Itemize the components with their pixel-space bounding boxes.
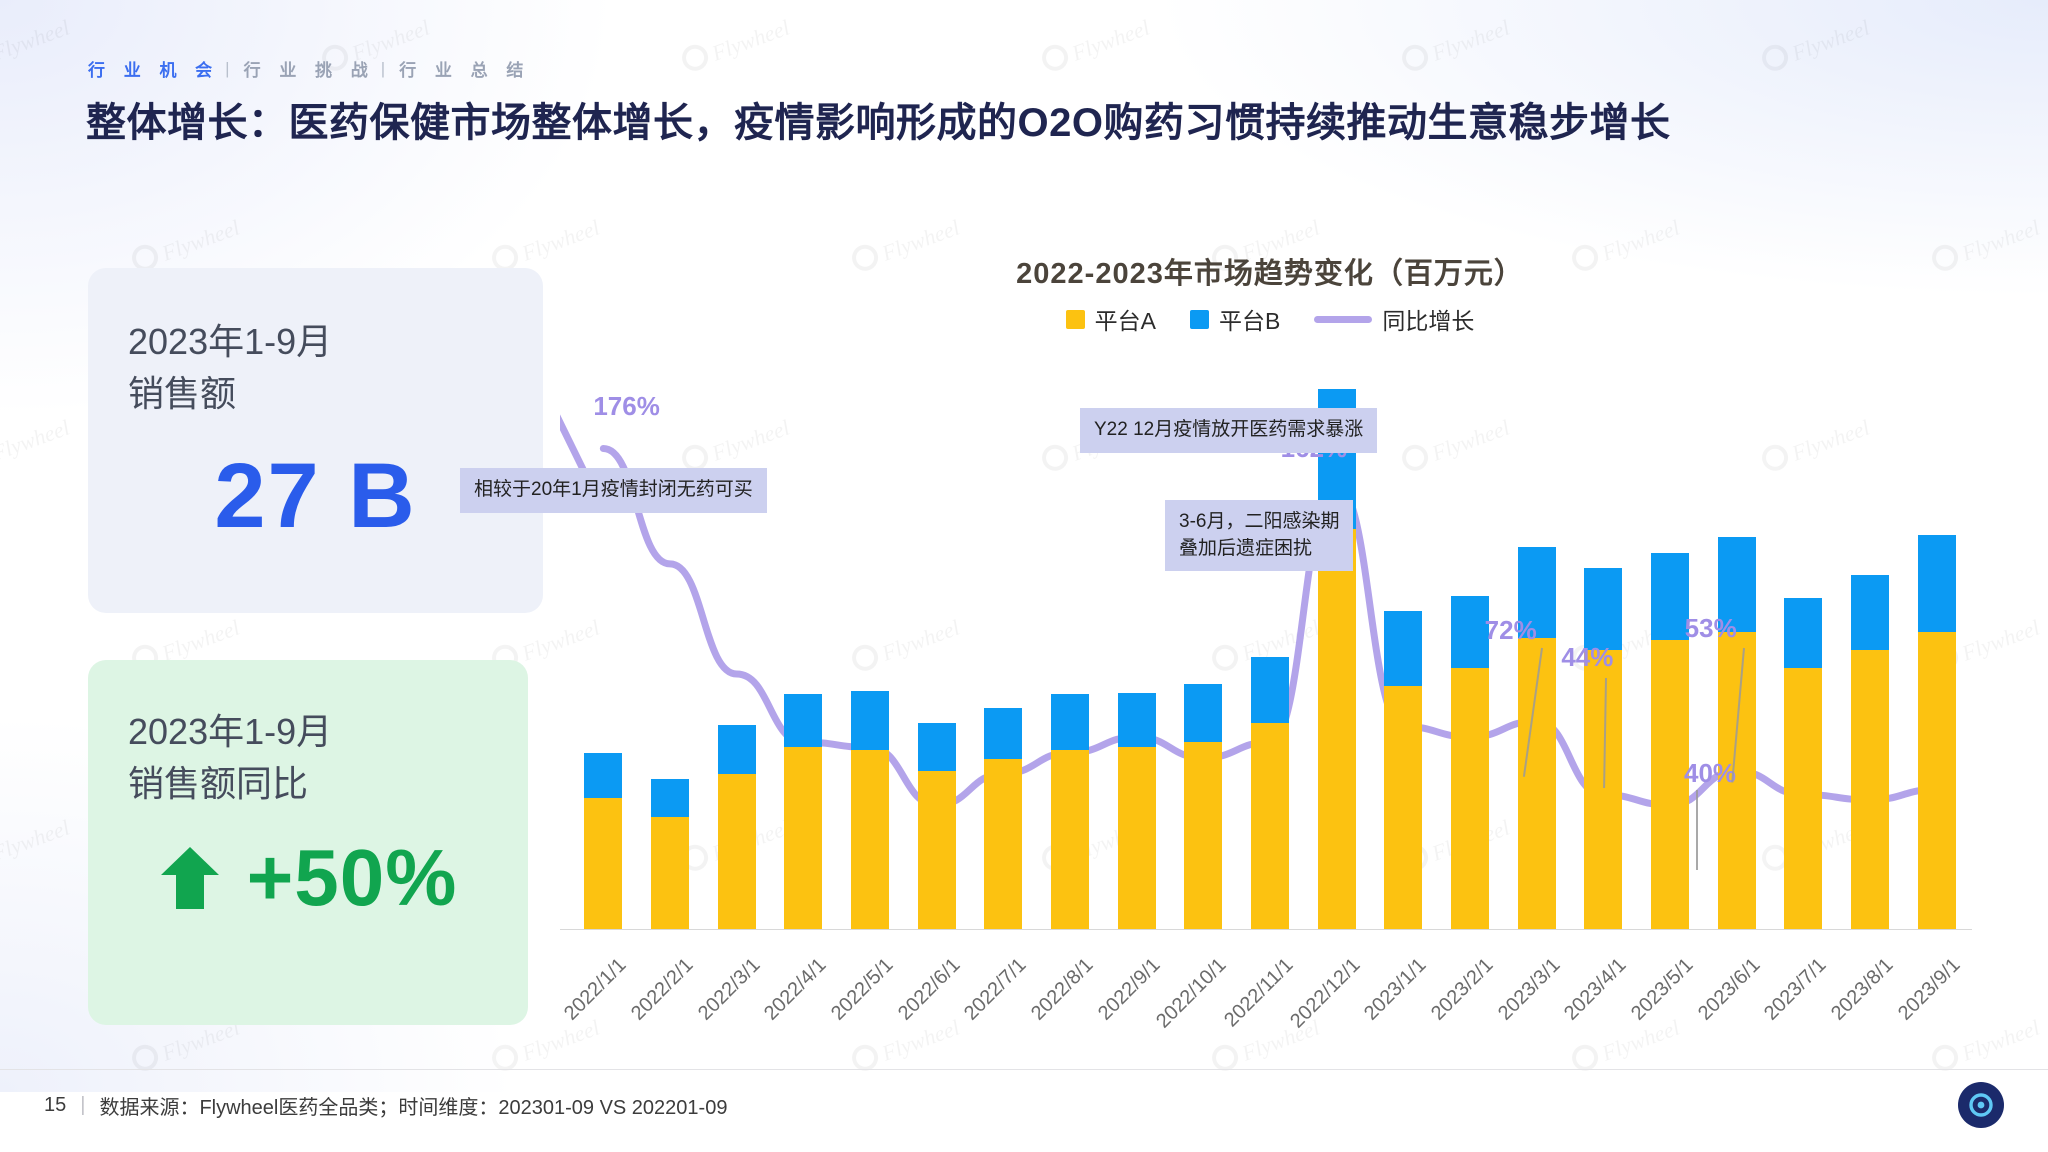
- footer-separator: |: [80, 1094, 85, 1117]
- chart-x-tick-labels: 2022/1/12022/2/12022/3/12022/4/12022/5/1…: [560, 940, 1980, 1050]
- legend-swatch-yoy-growth: [1314, 316, 1372, 323]
- bar-column: [1518, 547, 1556, 929]
- bar-column: [1784, 598, 1822, 929]
- bar-segment-platform-a: [784, 747, 822, 929]
- bar-segment-platform-a: [1851, 650, 1889, 929]
- chart-title: 2022-2023年市场趋势变化（百万元）: [560, 250, 1980, 292]
- bar-segment-platform-a: [918, 771, 956, 929]
- footer: 15 | 数据来源：Flywheel医药全品类；时间维度：202301-09 V…: [44, 1091, 727, 1120]
- legend-item-platform-a[interactable]: 平台A: [1066, 302, 1156, 336]
- footer-divider: [0, 1069, 2048, 1070]
- bar-column: [984, 708, 1022, 929]
- bar-segment-platform-b: [1584, 568, 1622, 650]
- legend-item-yoy-growth[interactable]: 同比增长: [1314, 302, 1474, 336]
- chart-legend: 平台A 平台B 同比增长: [560, 302, 1980, 336]
- legend-swatch-platform-b: [1190, 310, 1209, 329]
- bar-segment-platform-b: [651, 779, 689, 818]
- bar-segment-platform-b: [1118, 693, 1156, 748]
- kpi-card-sales: 2023年1-9月销售额 27 B: [88, 268, 543, 613]
- bar-column: [1651, 553, 1689, 929]
- flywheel-logo-icon: [1966, 1090, 1996, 1120]
- legend-label-platform-a: 平台A: [1095, 302, 1156, 336]
- legend-label-yoy-growth: 同比增长: [1382, 302, 1474, 336]
- chart-data-label: 72%: [1485, 615, 1537, 646]
- bar-segment-platform-b: [1384, 611, 1422, 686]
- bar-segment-platform-b: [1784, 598, 1822, 668]
- bar-segment-platform-a: [1184, 742, 1222, 929]
- bar-segment-platform-b: [718, 725, 756, 774]
- bar-segment-platform-a: [851, 750, 889, 929]
- bar-segment-platform-b: [584, 753, 622, 798]
- chart-data-label: 44%: [1561, 642, 1613, 673]
- bar-segment-platform-a: [584, 798, 622, 929]
- bar-column: [1184, 684, 1222, 929]
- legend-swatch-platform-a: [1066, 310, 1085, 329]
- breadcrumb-separator: |: [225, 59, 229, 79]
- bar-column: [1118, 693, 1156, 929]
- footer-source: 数据来源：Flywheel医药全品类；时间维度：202301-09 VS 202…: [99, 1091, 727, 1120]
- legend-label-platform-b: 平台B: [1219, 302, 1280, 336]
- chart-data-label: 176%: [593, 391, 660, 422]
- bar-segment-platform-b: [1651, 553, 1689, 640]
- kpi-card-sales-label: 2023年1-9月销售额: [88, 268, 543, 420]
- market-trend-chart: 2022-2023年市场趋势变化（百万元） 平台A 平台B 同比增长 176%1…: [560, 250, 1980, 1050]
- kpi-card-yoy-label: 2023年1-9月销售额同比: [88, 660, 528, 810]
- bar-segment-platform-b: [1851, 575, 1889, 650]
- bar-segment-platform-b: [1451, 596, 1489, 669]
- breadcrumb-item-1[interactable]: 行 业 挑 战: [244, 56, 375, 81]
- legend-item-platform-b[interactable]: 平台B: [1190, 302, 1280, 336]
- bar-segment-platform-a: [1251, 723, 1289, 929]
- chart-data-label: 40%: [1684, 758, 1736, 789]
- breadcrumb-separator: |: [381, 59, 385, 79]
- bar-column: [918, 723, 956, 929]
- bar-segment-platform-a: [1584, 650, 1622, 929]
- brand-logo: [1958, 1082, 2004, 1128]
- kpi-card-yoy: 2023年1-9月销售额同比 +50%: [88, 660, 528, 1025]
- bar-segment-platform-a: [718, 774, 756, 929]
- data-label-leader-line: [1696, 790, 1698, 870]
- bar-segment-platform-a: [1451, 668, 1489, 929]
- bar-column: [718, 725, 756, 929]
- footer-page-number: 15: [44, 1094, 66, 1117]
- bar-column: [1384, 611, 1422, 929]
- bar-segment-platform-a: [1318, 529, 1356, 929]
- bar-column: [1851, 575, 1889, 929]
- chart-plot-area: 176%162%72%44%40%53%相较于20年1月疫情封闭无药可买Y22 …: [560, 360, 1980, 930]
- chart-annotation: 相较于20年1月疫情封闭无药可买: [460, 468, 767, 513]
- breadcrumb: 行 业 机 会 | 行 业 挑 战 | 行 业 总 结: [88, 56, 530, 81]
- bar-segment-platform-b: [1918, 535, 1956, 632]
- bar-segment-platform-b: [784, 694, 822, 747]
- bar-segment-platform-a: [1384, 686, 1422, 929]
- bar-column: [1251, 657, 1289, 929]
- bar-column: [651, 779, 689, 929]
- bar-column: [1051, 694, 1089, 929]
- bar-segment-platform-b: [1051, 694, 1089, 750]
- breadcrumb-item-0[interactable]: 行 业 机 会: [88, 56, 219, 81]
- bar-segment-platform-b: [1251, 657, 1289, 722]
- bar-segment-platform-a: [1051, 750, 1089, 929]
- bar-column: [851, 691, 889, 929]
- chart-annotation: Y22 12月疫情放开医药需求暴涨: [1080, 408, 1377, 453]
- chart-data-label: 53%: [1685, 613, 1737, 644]
- bar-column: [784, 694, 822, 929]
- bar-segment-platform-b: [918, 723, 956, 772]
- bar-segment-platform-a: [1918, 632, 1956, 929]
- bar-segment-platform-a: [984, 759, 1022, 929]
- bar-column: [1318, 389, 1356, 929]
- breadcrumb-item-2[interactable]: 行 业 总 结: [399, 56, 530, 81]
- kpi-card-yoy-value: +50%: [247, 832, 458, 924]
- bar-column: [1918, 535, 1956, 929]
- bar-segment-platform-b: [984, 708, 1022, 759]
- bar-segment-platform-a: [1784, 668, 1822, 929]
- bar-segment-platform-b: [1184, 684, 1222, 742]
- bar-segment-platform-a: [1118, 747, 1156, 929]
- bar-segment-platform-a: [651, 817, 689, 929]
- bar-segment-platform-b: [851, 691, 889, 749]
- bar-column: [584, 753, 622, 929]
- chart-x-axis: [560, 929, 1972, 930]
- kpi-card-yoy-value-row: +50%: [88, 832, 528, 924]
- bar-column: [1451, 596, 1489, 930]
- page-title: 整体增长：医药保健市场整体增长，疫情影响形成的O2O购药习惯持续推动生意稳步增长: [86, 96, 1966, 151]
- arrow-up-icon: [159, 845, 221, 911]
- chart-annotation: 3-6月，二阳感染期 叠加后遗症困扰: [1165, 500, 1353, 571]
